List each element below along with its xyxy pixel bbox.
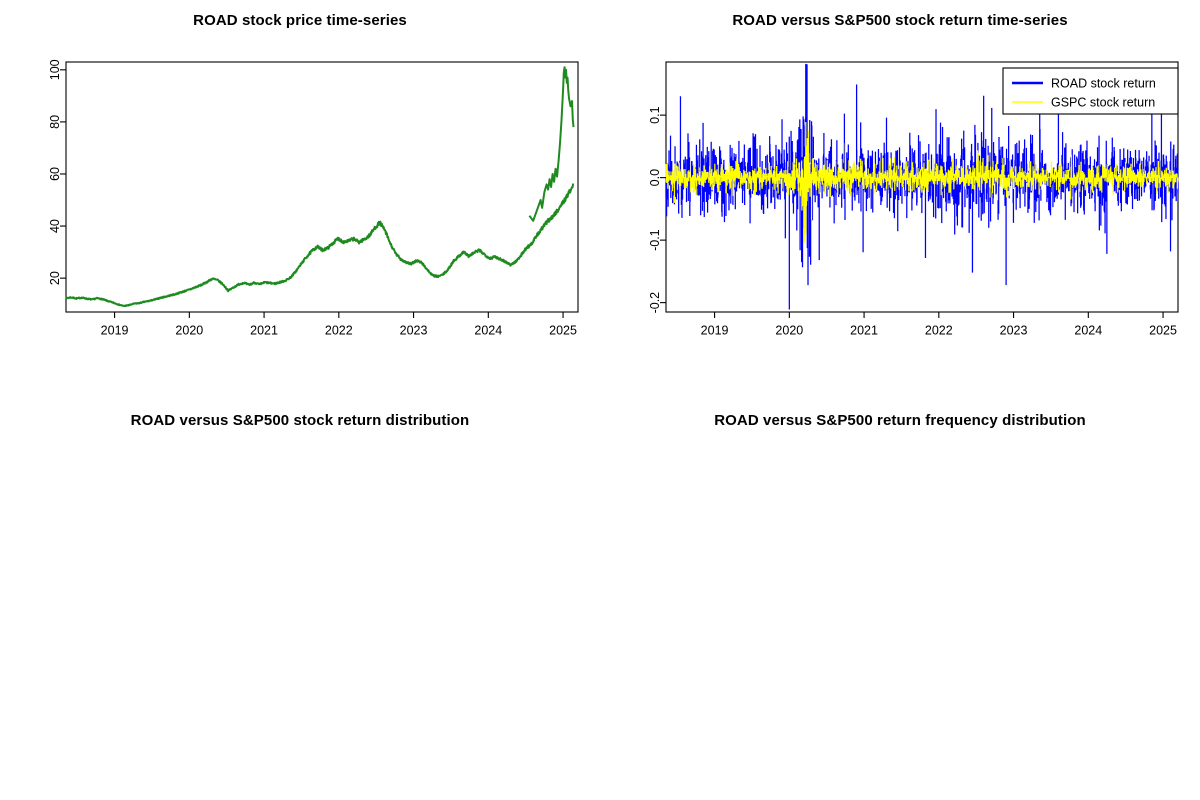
x-tick-label: 2025 <box>549 324 577 338</box>
y-tick-label: -0.2 <box>648 292 662 314</box>
y-tick-label: 80 <box>48 115 62 129</box>
x-tick-label: 2020 <box>175 324 203 338</box>
y-tick-label: 40 <box>48 219 62 233</box>
y-tick-label: 20 <box>48 271 62 285</box>
histogram-chart: [-0.208,-0.195)[-0.13,-0.117)[-0.0393,-0… <box>600 400 1200 800</box>
y-tick-label: 0.0 <box>648 169 662 186</box>
panel-return-timeseries: ROAD versus S&P500 stock return time-ser… <box>600 0 1200 400</box>
plot-grid: ROAD stock price time-series 20192020202… <box>0 0 1200 800</box>
x-tick-label: 2020 <box>775 324 803 338</box>
y-tick-label: -0.1 <box>648 229 662 251</box>
legend-label: ROAD stock return <box>1051 77 1156 91</box>
panel-histogram-title: ROAD versus S&P500 return frequency dist… <box>600 400 1200 440</box>
x-tick-label: 2019 <box>101 324 129 338</box>
x-tick-label: 2024 <box>474 324 502 338</box>
y-tick-label: 60 <box>48 167 62 181</box>
x-tick-label: 2024 <box>1074 324 1102 338</box>
x-tick-label: 2022 <box>925 324 953 338</box>
x-tick-label: 2022 <box>325 324 353 338</box>
price-chart: 201920202021202220232024202520406080100 <box>0 0 600 400</box>
panel-density-title: ROAD versus S&P500 stock return distribu… <box>0 400 600 440</box>
panel-price-timeseries: ROAD stock price time-series 20192020202… <box>0 0 600 400</box>
panel-return-frequency: ROAD versus S&P500 return frequency dist… <box>600 400 1200 800</box>
x-tick-label: 2021 <box>850 324 878 338</box>
price-line <box>66 184 573 306</box>
legend-label: GSPC stock return <box>1051 96 1155 110</box>
x-tick-label: 2023 <box>400 324 428 338</box>
return-legend: ROAD stock returnGSPC stock return <box>1003 68 1178 114</box>
x-tick-label: 2021 <box>250 324 278 338</box>
x-tick-label: 2025 <box>1149 324 1177 338</box>
panel-price-title: ROAD stock price time-series <box>0 0 600 40</box>
x-tick-label: 2023 <box>1000 324 1028 338</box>
y-tick-label: 0.1 <box>648 106 662 123</box>
panel-return-title: ROAD versus S&P500 stock return time-ser… <box>600 0 1200 40</box>
return-chart: 2019202020212022202320242025-0.2-0.10.00… <box>600 0 1200 400</box>
x-tick-label: 2019 <box>701 324 729 338</box>
panel-return-distribution: ROAD versus S&P500 stock return distribu… <box>0 400 600 800</box>
y-tick-label: 100 <box>48 59 62 80</box>
density-chart: -0.2-0.10.00.101020304050ROAD return dis… <box>0 400 600 800</box>
